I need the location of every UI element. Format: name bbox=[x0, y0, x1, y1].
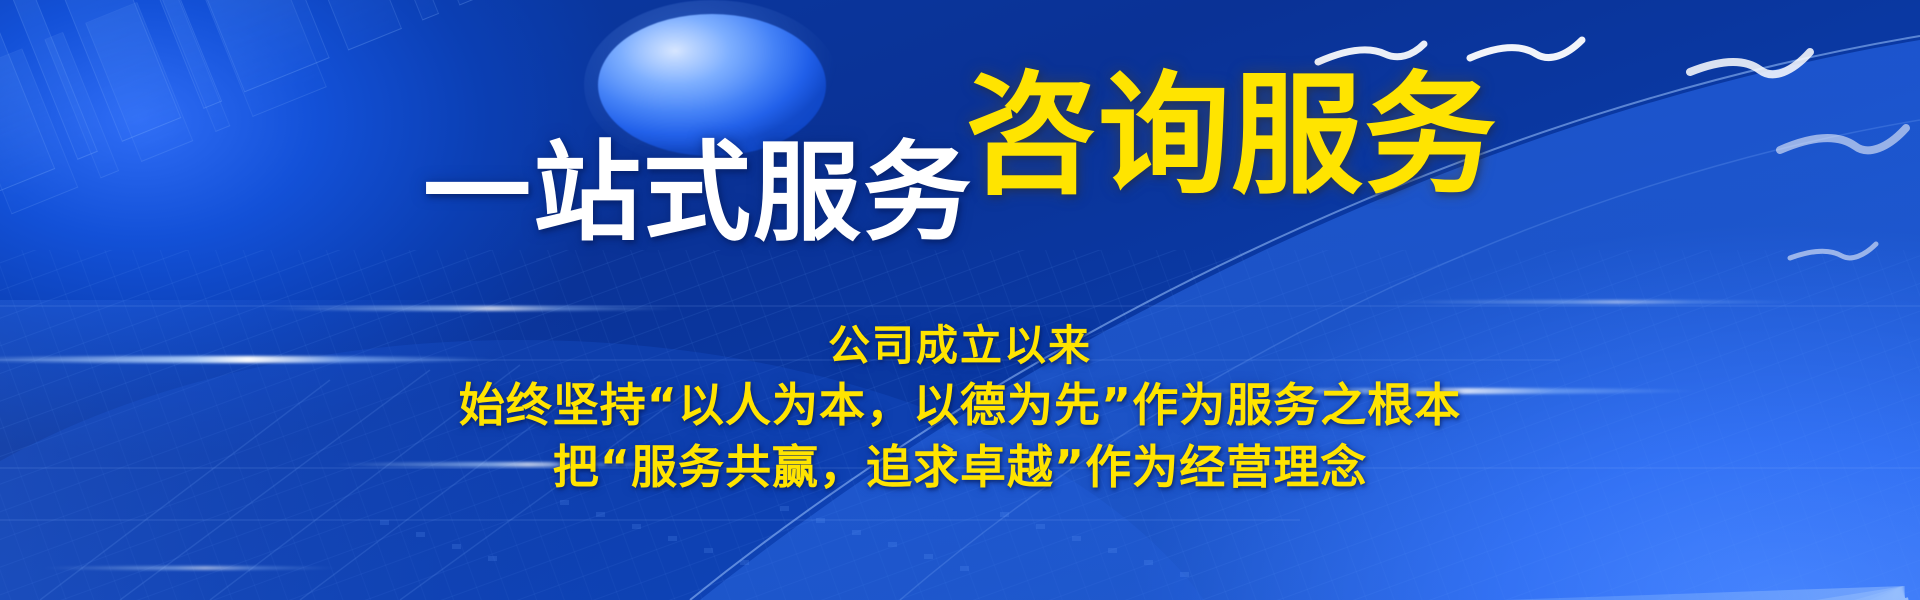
banner-content: 一站式服务 咨询服务 公司成立以来 始终坚持“以人为本，以德为先”作为服务之根本… bbox=[0, 0, 1920, 600]
subtitle-line-3: 把“服务共赢，追求卓越”作为经营理念 bbox=[0, 436, 1920, 498]
headline-primary: 一站式服务 bbox=[423, 140, 973, 248]
subtitle-line-1: 公司成立以来 bbox=[0, 318, 1920, 374]
promotional-banner: 一站式服务 咨询服务 公司成立以来 始终坚持“以人为本，以德为先”作为服务之根本… bbox=[0, 0, 1920, 600]
headline: 一站式服务 咨询服务 bbox=[0, 62, 1920, 194]
headline-accent: 咨询服务 bbox=[965, 70, 1497, 202]
subtitle-block: 公司成立以来 始终坚持“以人为本，以德为先”作为服务之根本 把“服务共赢，追求卓… bbox=[0, 318, 1920, 498]
subtitle-line-2: 始终坚持“以人为本，以德为先”作为服务之根本 bbox=[0, 374, 1920, 436]
